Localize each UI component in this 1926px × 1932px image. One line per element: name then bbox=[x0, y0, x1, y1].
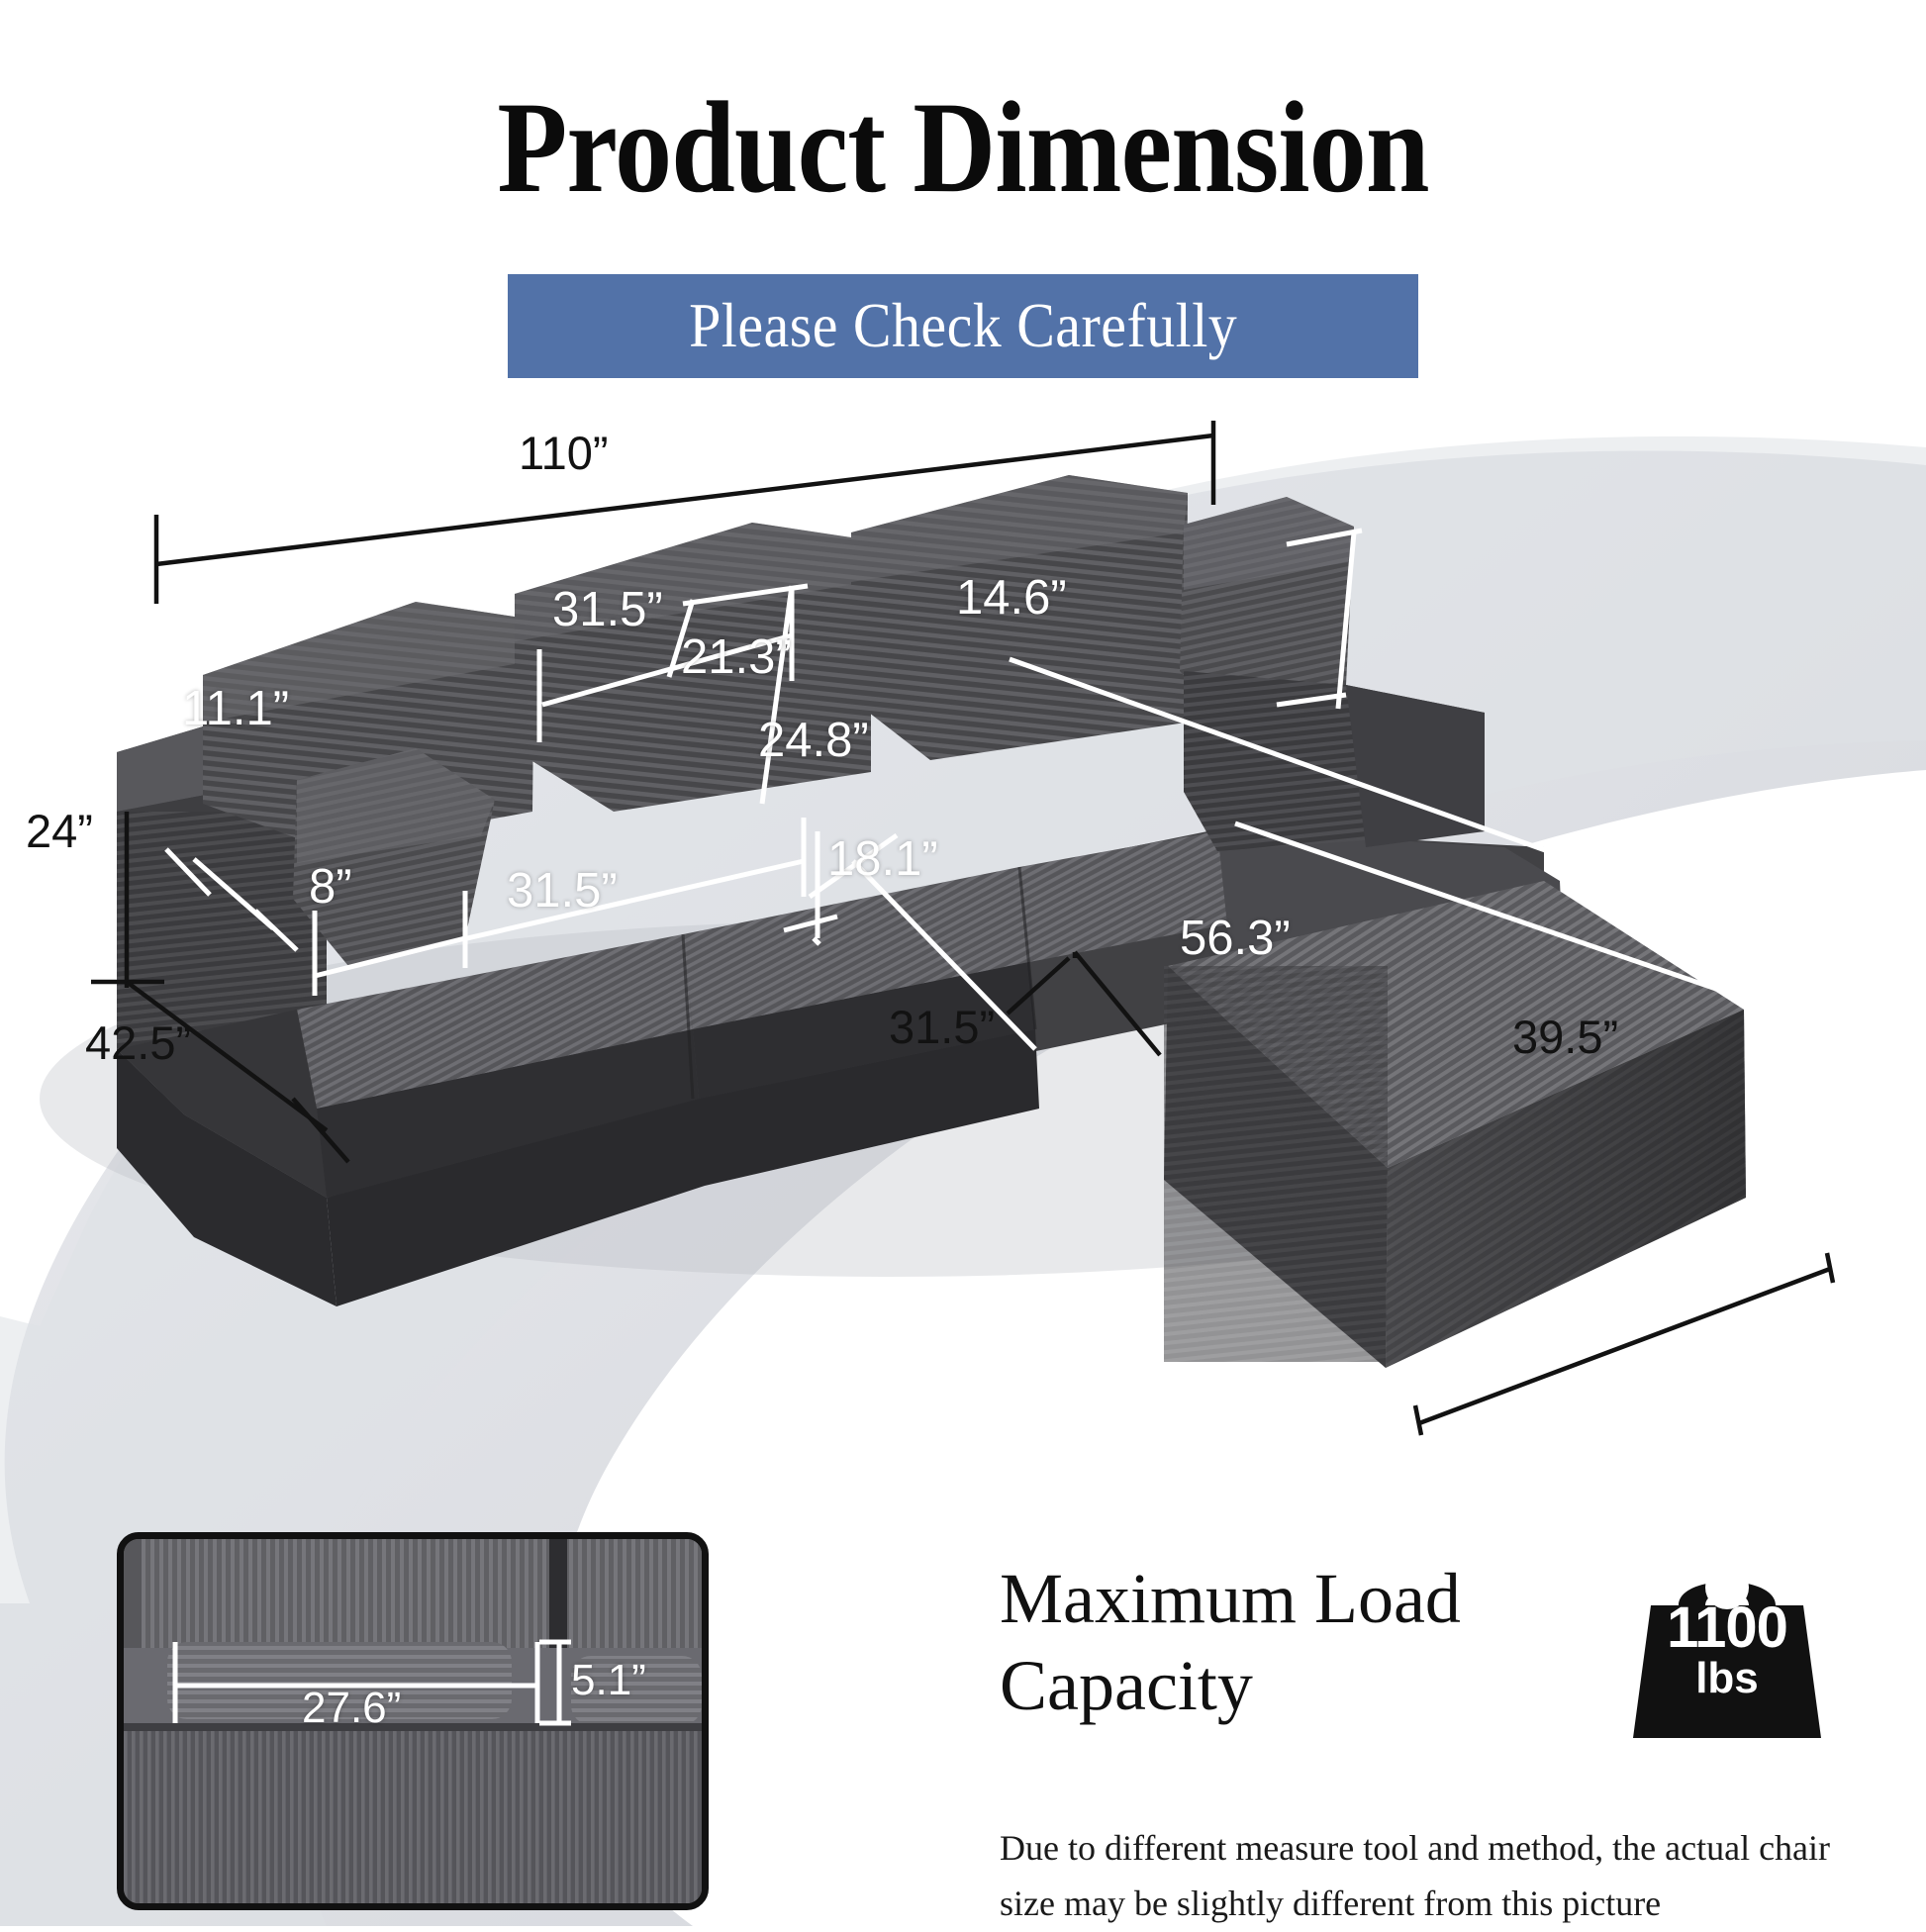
max-load-title: Maximum Load Capacity bbox=[1000, 1556, 1475, 1730]
inset-sofa-photo bbox=[124, 1539, 702, 1903]
max-load-block: Maximum Load Capacity 1100 lbs Due to di… bbox=[1000, 1556, 1890, 1730]
dimension-label-chaise-length: 56.3” bbox=[1180, 911, 1291, 966]
dimension-label-chaise-width: 31.5” bbox=[889, 1000, 995, 1054]
infographic-canvas: Product Dimension Please Check Carefully bbox=[0, 0, 1926, 1926]
dimension-label-bolster-height: 5.1” bbox=[571, 1656, 646, 1705]
subtitle-banner: Please Check Carefully bbox=[508, 274, 1418, 378]
detail-inset-panel: 27.6” 5.1” bbox=[117, 1532, 709, 1910]
dimension-label-back-cushion-height: 21.3” bbox=[681, 629, 792, 685]
max-load-title-line1: Maximum Load bbox=[1000, 1556, 1475, 1643]
weight-icon: 1100 lbs bbox=[1623, 1544, 1831, 1752]
dimension-label-seat-cushion-width: 31.5” bbox=[507, 863, 618, 918]
dimension-label-chaise-depth: 39.5” bbox=[1512, 1010, 1618, 1064]
sofa-illustration: 31.5” 21.3” 14.6” 24.8” 11.1” 8” 31.5” 1… bbox=[0, 416, 1926, 1514]
weight-icon-text: 1100 lbs bbox=[1623, 1599, 1831, 1700]
dimension-label-throw-pillow: 14.6” bbox=[956, 570, 1067, 626]
dimension-label-overall-depth: 42.5” bbox=[85, 1015, 191, 1070]
dimension-label-arm-width: 8” bbox=[309, 859, 352, 915]
disclaimer-line1: Due to different measure tool and method… bbox=[1000, 1821, 1851, 1877]
dimension-label-seat-height: 18.1” bbox=[827, 831, 938, 887]
subtitle-banner-label: Please Check Carefully bbox=[689, 290, 1237, 362]
disclaimer-line2: size may be slightly different from this… bbox=[1000, 1877, 1851, 1932]
dimension-label-seat-depth: 24.8” bbox=[758, 713, 869, 768]
dimension-label-back-height: 24” bbox=[26, 804, 93, 858]
max-load-title-line2: Capacity bbox=[1000, 1643, 1475, 1730]
page-title: Product Dimension bbox=[116, 77, 1810, 219]
dimension-label-overall-width: 110” bbox=[519, 426, 609, 480]
dimension-label-arm-depth: 11.1” bbox=[182, 681, 289, 736]
disclaimer-text: Due to different measure tool and method… bbox=[1000, 1821, 1851, 1932]
dimension-label-bolster-length: 27.6” bbox=[302, 1684, 401, 1733]
weight-unit: lbs bbox=[1623, 1657, 1831, 1700]
weight-value: 1100 bbox=[1623, 1599, 1831, 1657]
dimension-label-back-cushion-width: 31.5” bbox=[552, 582, 663, 637]
